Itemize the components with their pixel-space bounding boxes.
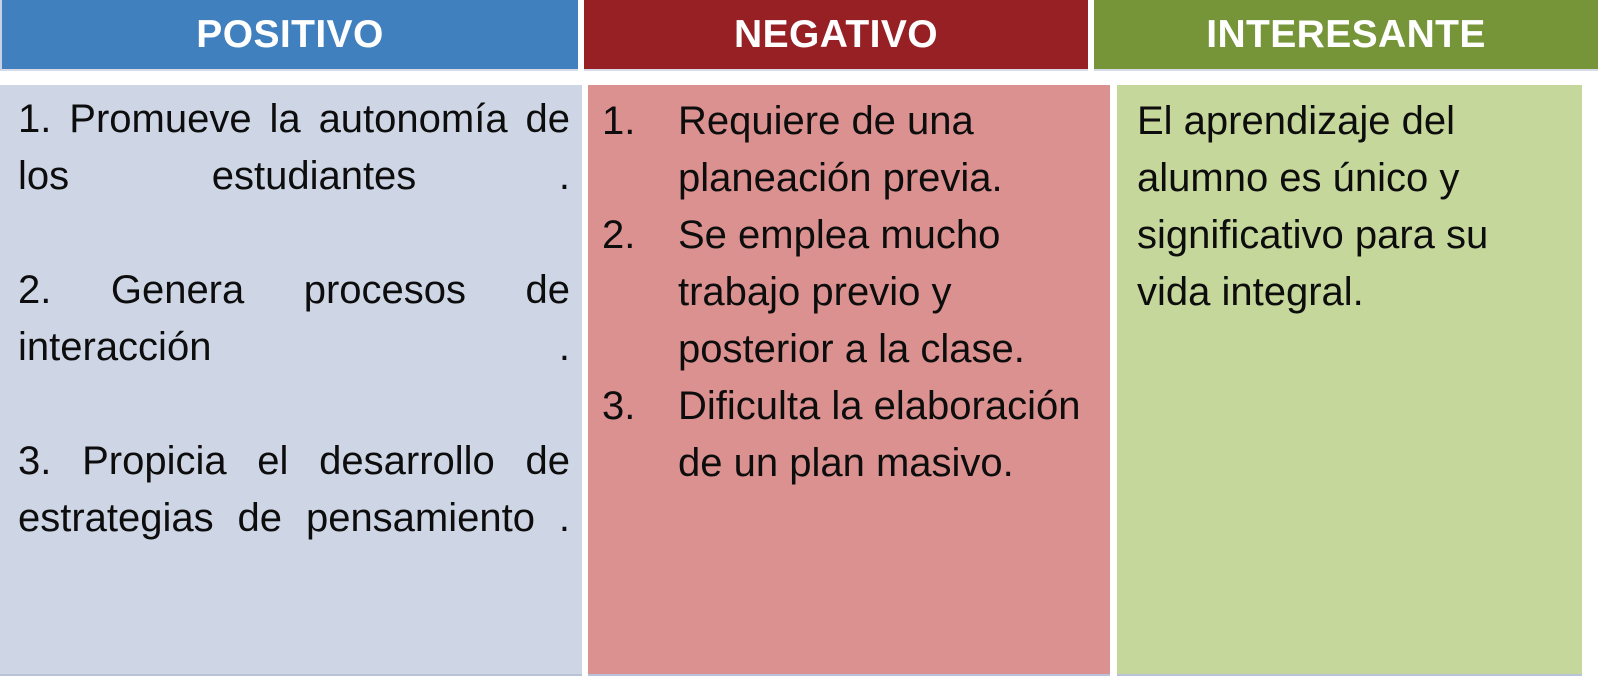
list-item: 2. Se emplea mucho trabajo previo y post… xyxy=(594,207,1098,378)
list-item-label: Requiere de una planeación previa. xyxy=(678,93,1098,207)
list-item: 2. Genera procesos de interacción . xyxy=(18,262,570,433)
pni-table: POSITIVO NEGATIVO INTERESANTE 1. Promuev… xyxy=(0,0,1600,681)
table-header-row: POSITIVO NEGATIVO INTERESANTE xyxy=(0,0,1600,74)
table-header-interesante: INTERESANTE xyxy=(1094,0,1598,71)
table-cell-interesante: El aprendizaje del alumno es único y sig… xyxy=(1117,85,1582,676)
list-item-label: Se emplea mucho trabajo previo y posteri… xyxy=(678,207,1098,378)
table-body-row: 1. Promueve la autonomía de los estudian… xyxy=(0,85,1600,678)
table-header-negativo: NEGATIVO xyxy=(584,0,1088,71)
list-item: 3. Dificulta la elaboración de un plan m… xyxy=(594,378,1098,492)
positivo-list: 1. Promueve la autonomía de los estudian… xyxy=(18,91,570,604)
list-item-label: Dificulta la elaboración de un plan masi… xyxy=(678,378,1098,492)
list-item-number: 2. xyxy=(594,207,678,264)
table-header-negativo-label: NEGATIVO xyxy=(734,15,938,54)
table-cell-negativo: 1. Requiere de una planeación previa. 2.… xyxy=(588,85,1110,676)
table-header-interesante-label: INTERESANTE xyxy=(1206,15,1486,54)
list-item: 1. Requiere de una planeación previa. xyxy=(594,93,1098,207)
list-item-number: 3. xyxy=(594,378,678,435)
table-header-positivo-label: POSITIVO xyxy=(196,15,383,54)
interesante-paragraph: El aprendizaje del alumno es único y sig… xyxy=(1137,93,1568,321)
list-item-number: 1. xyxy=(594,93,678,150)
negativo-list: 1. Requiere de una planeación previa. 2.… xyxy=(594,93,1098,492)
list-item: 1. Promueve la autonomía de los estudian… xyxy=(18,91,570,262)
table-header-positivo: POSITIVO xyxy=(0,0,578,71)
list-item: 3. Propicia el desarrollo de estrategias… xyxy=(18,433,570,604)
table-cell-positivo: 1. Promueve la autonomía de los estudian… xyxy=(0,85,582,676)
